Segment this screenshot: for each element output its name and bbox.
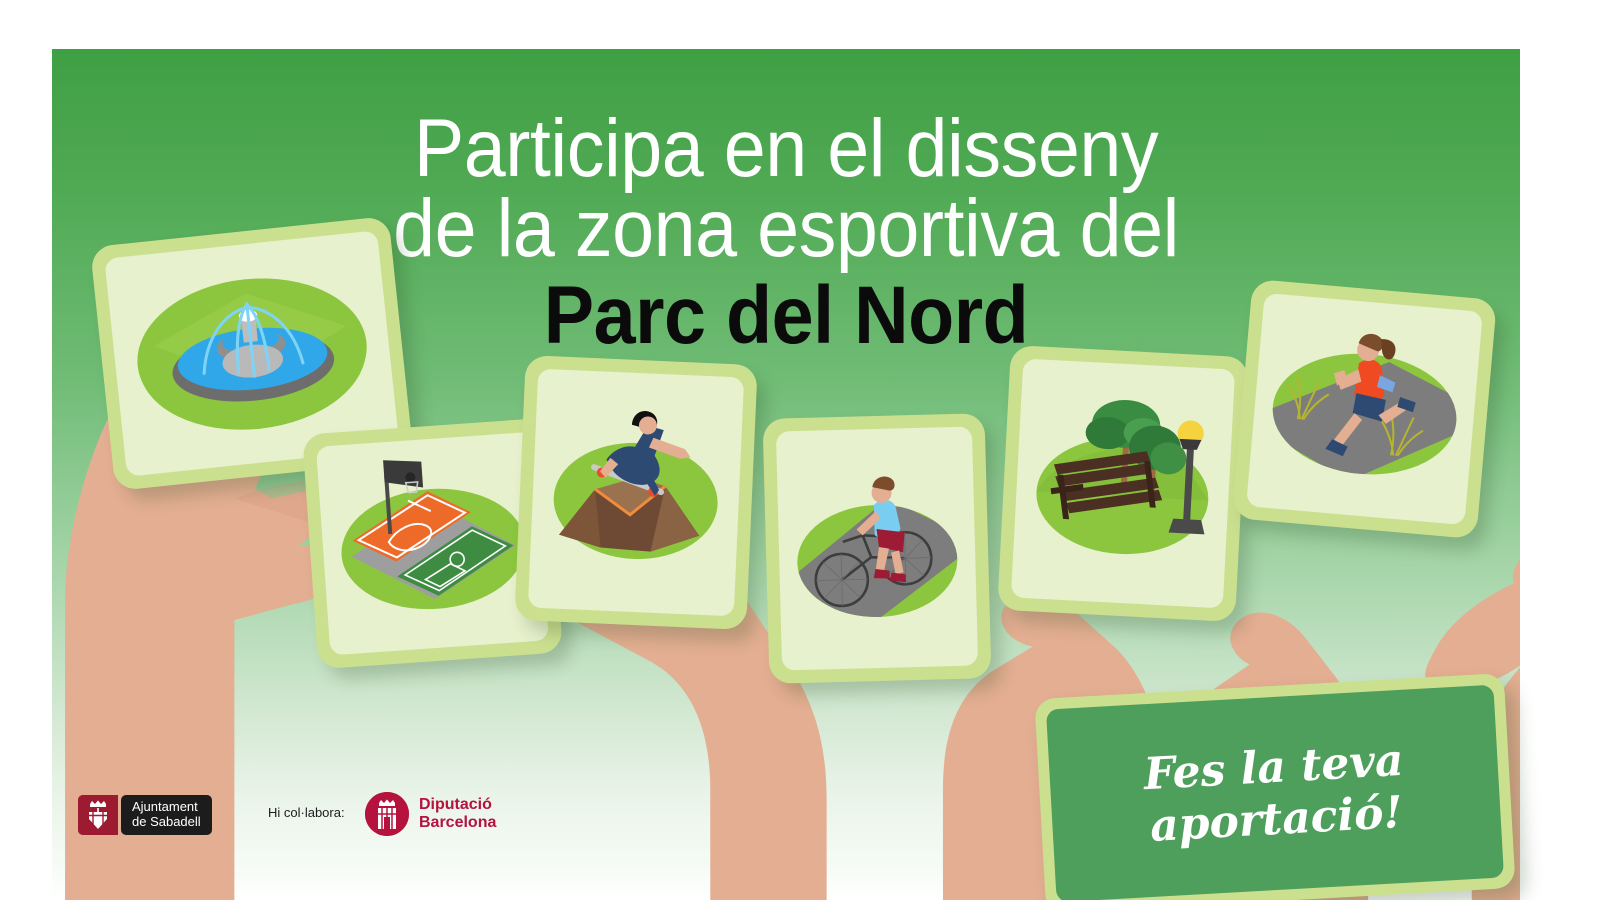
option-card-runpath[interactable] [1232,279,1497,539]
cyclist-icon [776,426,978,670]
diputacio-crest-icon [365,792,409,836]
ajuntament-line-2: de Sabadell [132,814,201,829]
basketball-court-icon [316,432,549,656]
card-inner [1011,359,1235,609]
card-inner [1246,293,1483,525]
hand-right-index [1513,493,1520,599]
park-bench-icon [1011,359,1235,609]
headline-line-1: Participa en el disseny [111,109,1462,189]
card-inner [316,432,549,656]
diputacio-line-1: Diputació [419,796,492,813]
diputacio-logo[interactable]: Diputació Barcelona [365,792,496,836]
sabadell-crest-icon [78,795,118,835]
card-inner [776,426,978,670]
ajuntament-logo[interactable]: Ajuntament de Sabadell [78,795,212,835]
ajuntament-line-1: Ajuntament [132,799,198,814]
collaborate-label: Hi col·labora: [268,805,345,820]
diputacio-line-2: Barcelona [419,814,496,831]
diputacio-label: Diputació Barcelona [419,796,496,832]
skateboarder-icon [528,369,744,617]
ajuntament-label-box: Ajuntament de Sabadell [121,795,212,835]
poster: Participa en el disseny de la zona espor… [0,0,1600,900]
option-card-skatepark[interactable] [514,355,757,630]
option-card-bikelane[interactable] [763,413,992,684]
footer: Ajuntament de Sabadell Hi col·labora: [0,780,1600,870]
runner-icon [1246,293,1483,525]
card-inner [528,369,744,617]
option-card-restarea[interactable] [997,345,1249,622]
